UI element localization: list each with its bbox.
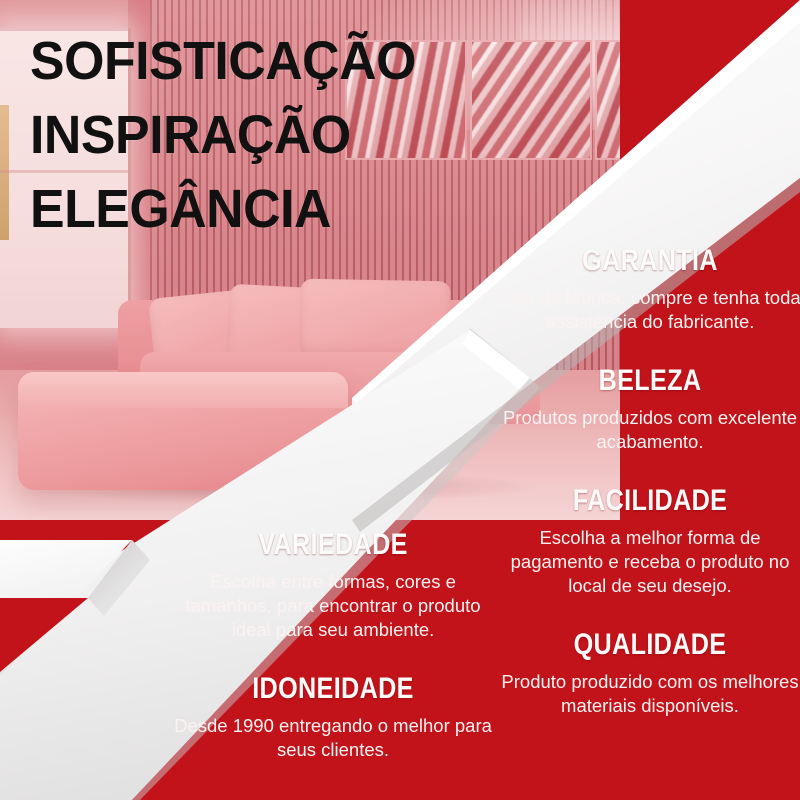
benefit-body-variedade: Escolha entre formas, cores e tamanhos, … xyxy=(168,570,498,642)
benefit-body-garantia: Loja da fábrica, compre e tenha toda ass… xyxy=(492,286,800,334)
headline-line-3: ELEGÂNCIA xyxy=(30,184,416,236)
headline-line-1: SOFISTICAÇÃO xyxy=(30,36,416,88)
benefit-body-facilidade: Escolha a melhor forma de pagamento e re… xyxy=(492,526,800,598)
benefit-heading-idoneidade: IDONEIDADE xyxy=(194,672,471,706)
benefit-heading-beleza: BELEZA xyxy=(517,364,782,398)
benefit-heading-facilidade: FACILIDADE xyxy=(517,484,782,518)
headline-line-2: INSPIRAÇÃO xyxy=(30,110,416,162)
benefits-column-left: VARIEDADE Escolha entre formas, cores e … xyxy=(168,528,498,762)
benefit-body-idoneidade: Desde 1990 entregando o melhor para seus… xyxy=(168,714,498,762)
benefits-column-right: GARANTIA Loja da fábrica, compre e tenha… xyxy=(492,244,800,718)
promo-poster: SOFISTICAÇÃO INSPIRAÇÃO ELEGÂNCIA GARANT… xyxy=(0,0,800,800)
page-title: SOFISTICAÇÃO INSPIRAÇÃO ELEGÂNCIA xyxy=(30,36,432,257)
benefit-heading-variedade: VARIEDADE xyxy=(194,528,471,562)
benefit-heading-garantia: GARANTIA xyxy=(517,244,782,278)
benefit-body-beleza: Produtos produzidos com excelente acabam… xyxy=(492,406,800,454)
benefit-heading-qualidade: QUALIDADE xyxy=(517,628,782,662)
benefit-body-qualidade: Produto produzido com os melhores materi… xyxy=(492,670,800,718)
